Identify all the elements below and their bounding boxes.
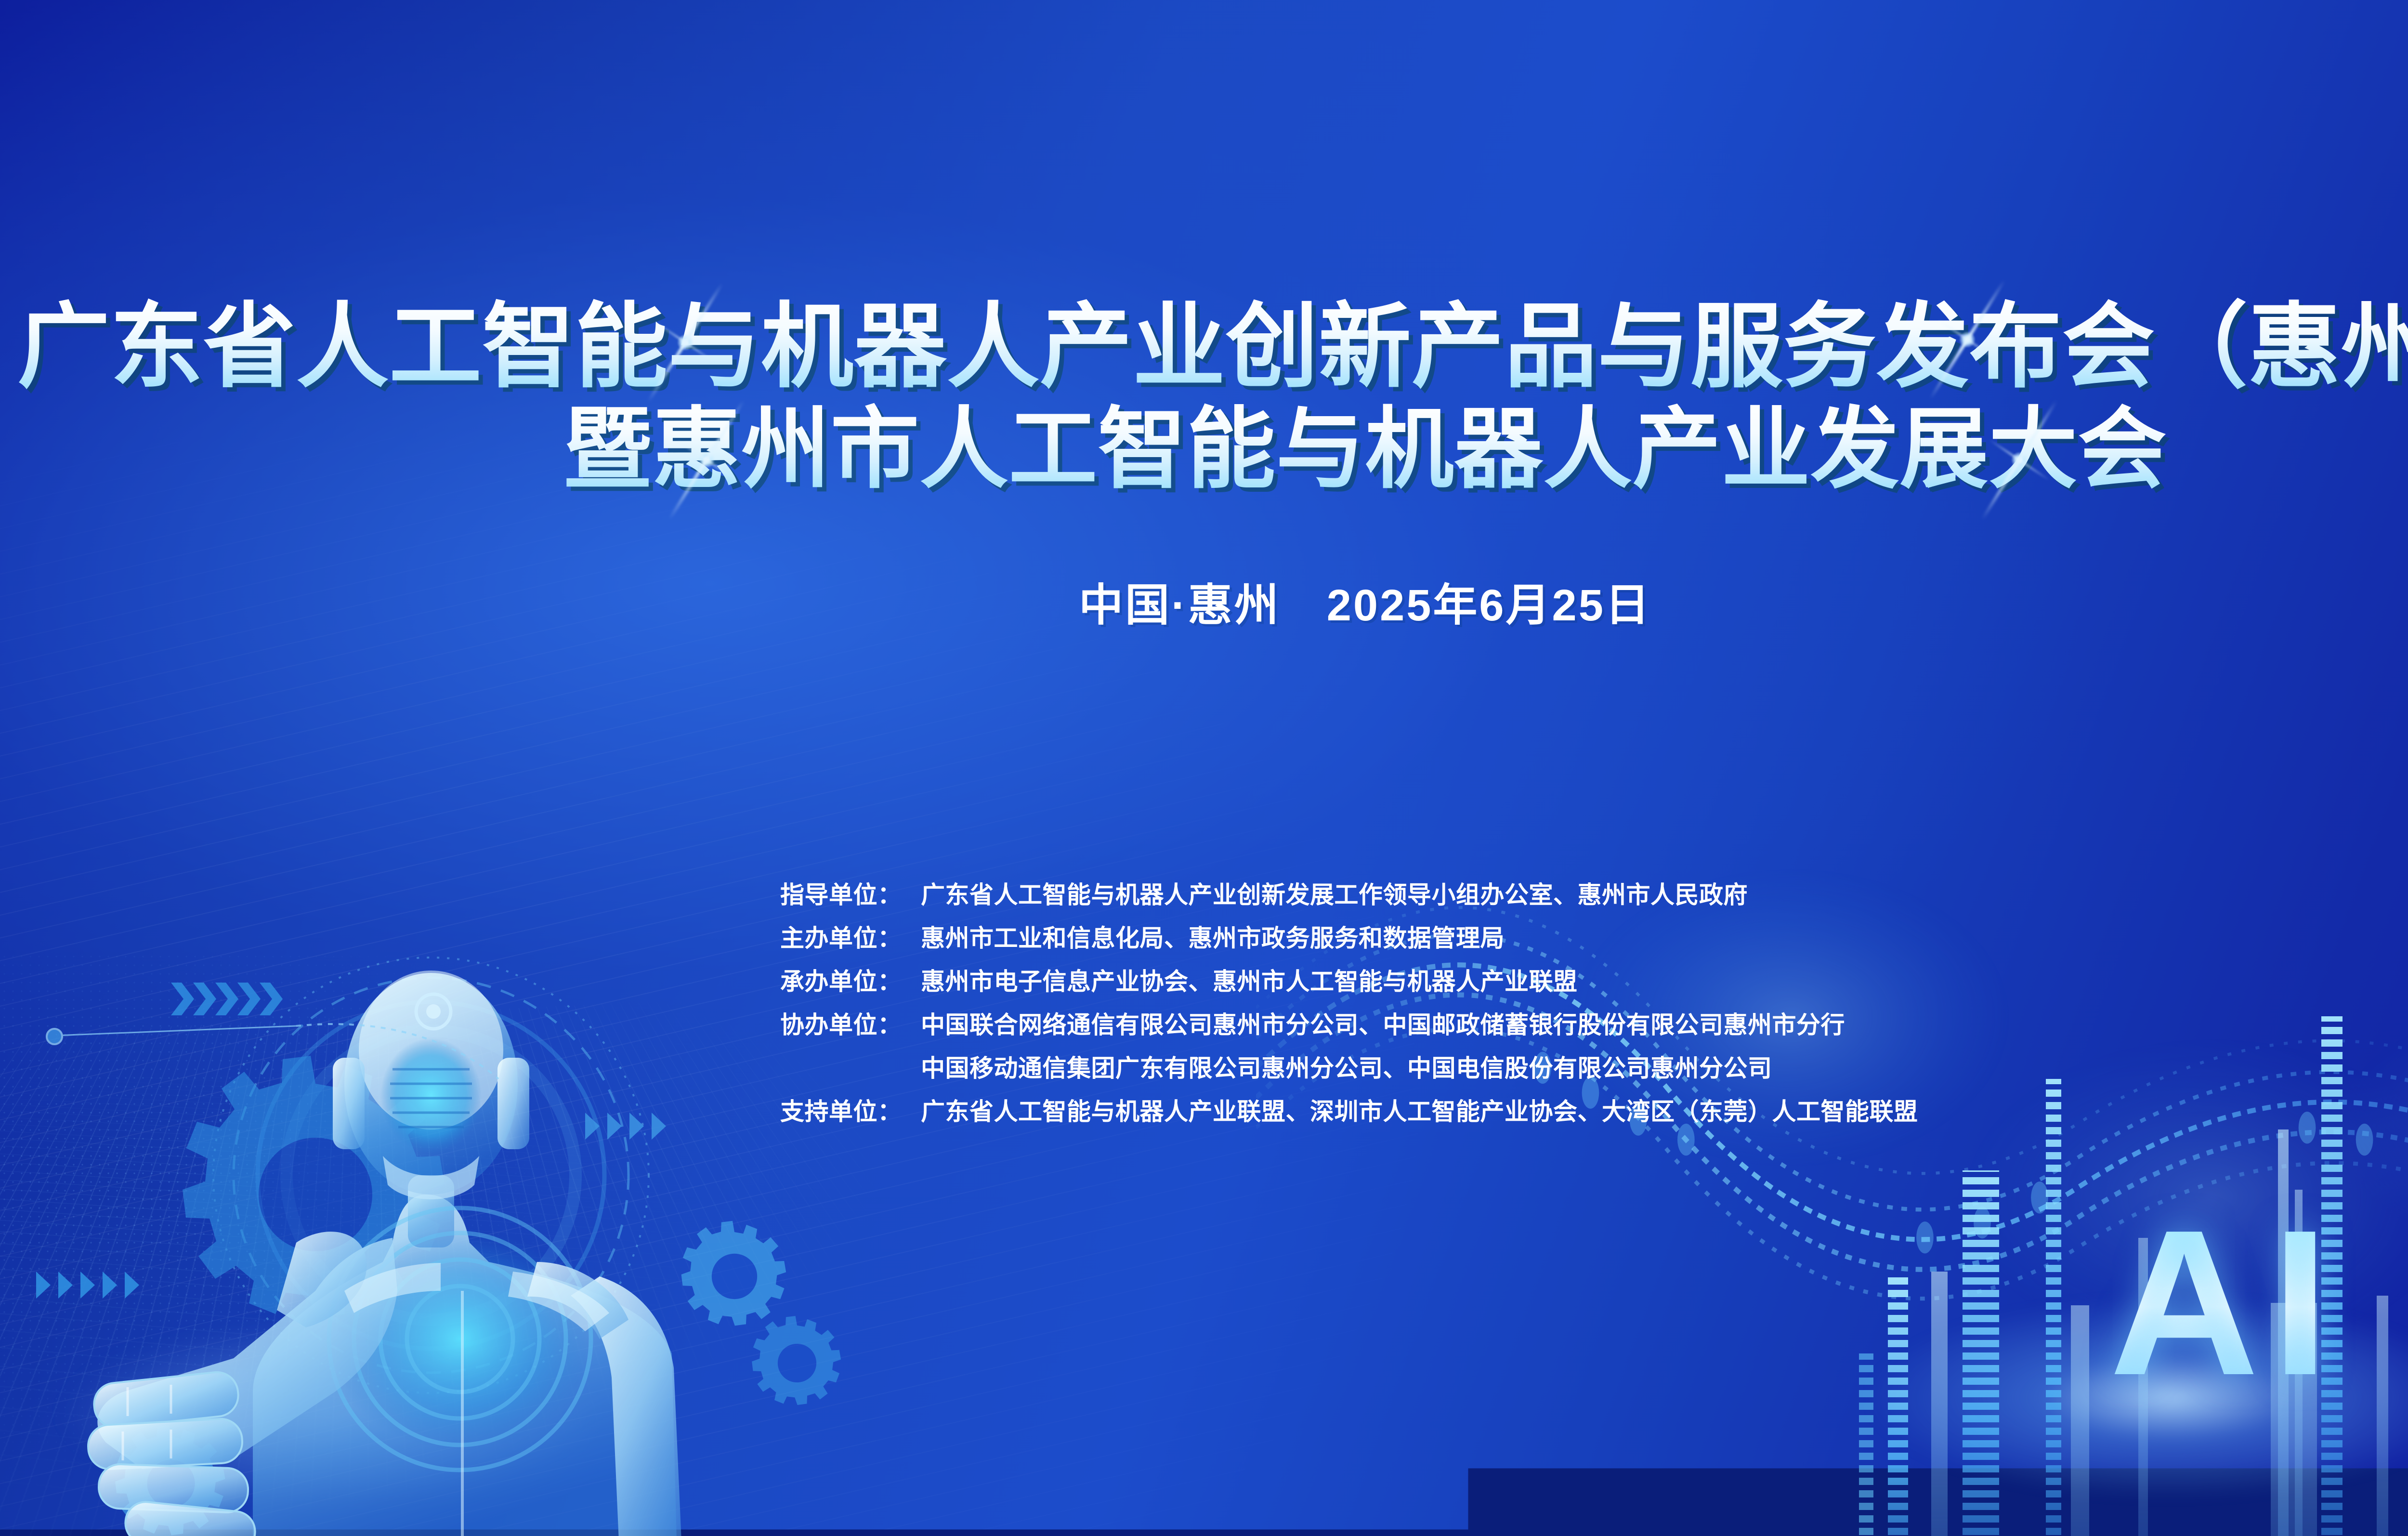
organizer-value: 惠州市电子信息产业协会、惠州市人工智能与机器人产业联盟 [921,962,1578,997]
organizer-row: 协办单位： 中国联合网络通信有限公司惠州市分公司、中国邮政储蓄银行股份有限公司惠… [780,1006,1918,1041]
organizer-row: 主办单位： 惠州市工业和信息化局、惠州市政务服务和数据管理局 [780,919,1918,955]
organizer-row: 支持单位： 广东省人工智能与机器人产业联盟、深圳市人工智能产业协会、大湾区（东莞… [780,1092,1918,1128]
organizer-value: 广东省人工智能与机器人产业联盟、深圳市人工智能产业协会、大湾区（东莞）人工智能联… [921,1092,1918,1127]
organizer-list: 指导单位： 广东省人工智能与机器人产业创新发展工作领导小组办公室、惠州市人民政府… [780,876,1918,1136]
organizer-label: 支持单位： [780,1092,909,1127]
organizer-value: 广东省人工智能与机器人产业创新发展工作领导小组办公室、惠州市人民政府 [921,876,1748,910]
event-date-location: 中国·惠州 2025年6月25日 [0,569,2408,633]
organizer-label: 协办单位： [780,1006,909,1040]
organizer-value: 中国移动通信集团广东有限公司惠州分公司、中国电信股份有限公司惠州分公司 [921,1049,1772,1084]
organizer-row: 承办单位： 惠州市电子信息产业协会、惠州市人工智能与机器人产业联盟 [780,962,1918,998]
title-line-1: 广东省人工智能与机器人产业创新产品与服务发布会（惠州专场） [0,295,2408,399]
organizer-value: 中国联合网络通信有限公司惠州市分公司、中国邮政储蓄银行股份有限公司惠州市分行 [921,1006,1845,1040]
organizer-label: 指导单位： [780,876,909,910]
robot-figure [26,906,811,1536]
organizer-value: 惠州市工业和信息化局、惠州市政务服务和数据管理局 [921,919,1505,954]
chevron-right-icon [171,983,283,1015]
organizer-row-continuation: 协办单位： 中国移动通信集团广东有限公司惠州分公司、中国电信股份有限公司惠州分公… [780,1049,1918,1085]
gear-icon [752,1316,841,1405]
gear-icon [681,1221,786,1326]
organizer-label: 主办单位： [780,919,909,954]
organizer-row: 指导单位： 广东省人工智能与机器人产业创新发展工作领导小组办公室、惠州市人民政府 [780,876,1918,911]
ai-logo-text: AI [2109,1199,2342,1406]
page-title: 广东省人工智能与机器人产业创新产品与服务发布会（惠州专场） 暨惠州市人工智能与机… [0,295,2408,499]
chevron-right-icon [585,1113,666,1140]
organizer-label: 承办单位： [780,962,909,997]
conference-banner: AI 广东省人工智能与机器人产业创新产品与服务发布会（惠州专场） 暨惠州市人工智… [0,0,2408,1536]
title-line-2: 暨惠州市人工智能与机器人产业发展大会 [0,399,2408,499]
chevron-right-icon [36,1272,139,1299]
